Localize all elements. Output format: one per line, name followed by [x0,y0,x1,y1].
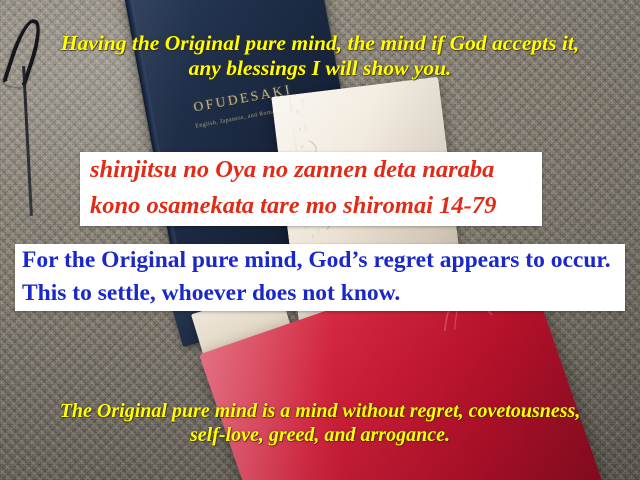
caption-top-line-1: Having the Original pure mind, the mind … [8,31,632,56]
romaji-line-2: kono osamekata tare mo shiromai 14-79 [80,188,542,224]
caption-top-line-2: any blessings I will show you. [8,56,632,81]
caption-bottom-line-2: self-love, greed, and arrogance. [10,424,630,448]
romaji-caption-box: shinjitsu no Oya no zannen deta naraba k… [80,152,542,226]
translation-line-1: For the Original pure mind, God’s regret… [15,244,625,277]
slide-canvas: OFUDESAKI English, Japanese, and Romaniz… [0,0,640,480]
translation-line-2: This to settle, whoever does not know. [15,277,625,310]
romaji-line-1: shinjitsu no Oya no zannen deta naraba [80,152,542,188]
caption-bottom: The Original pure mind is a mind without… [0,400,640,447]
translation-caption-box: For the Original pure mind, God’s regret… [15,244,625,311]
caption-top: Having the Original pure mind, the mind … [0,31,640,82]
caption-bottom-line-1: The Original pure mind is a mind without… [10,400,630,424]
